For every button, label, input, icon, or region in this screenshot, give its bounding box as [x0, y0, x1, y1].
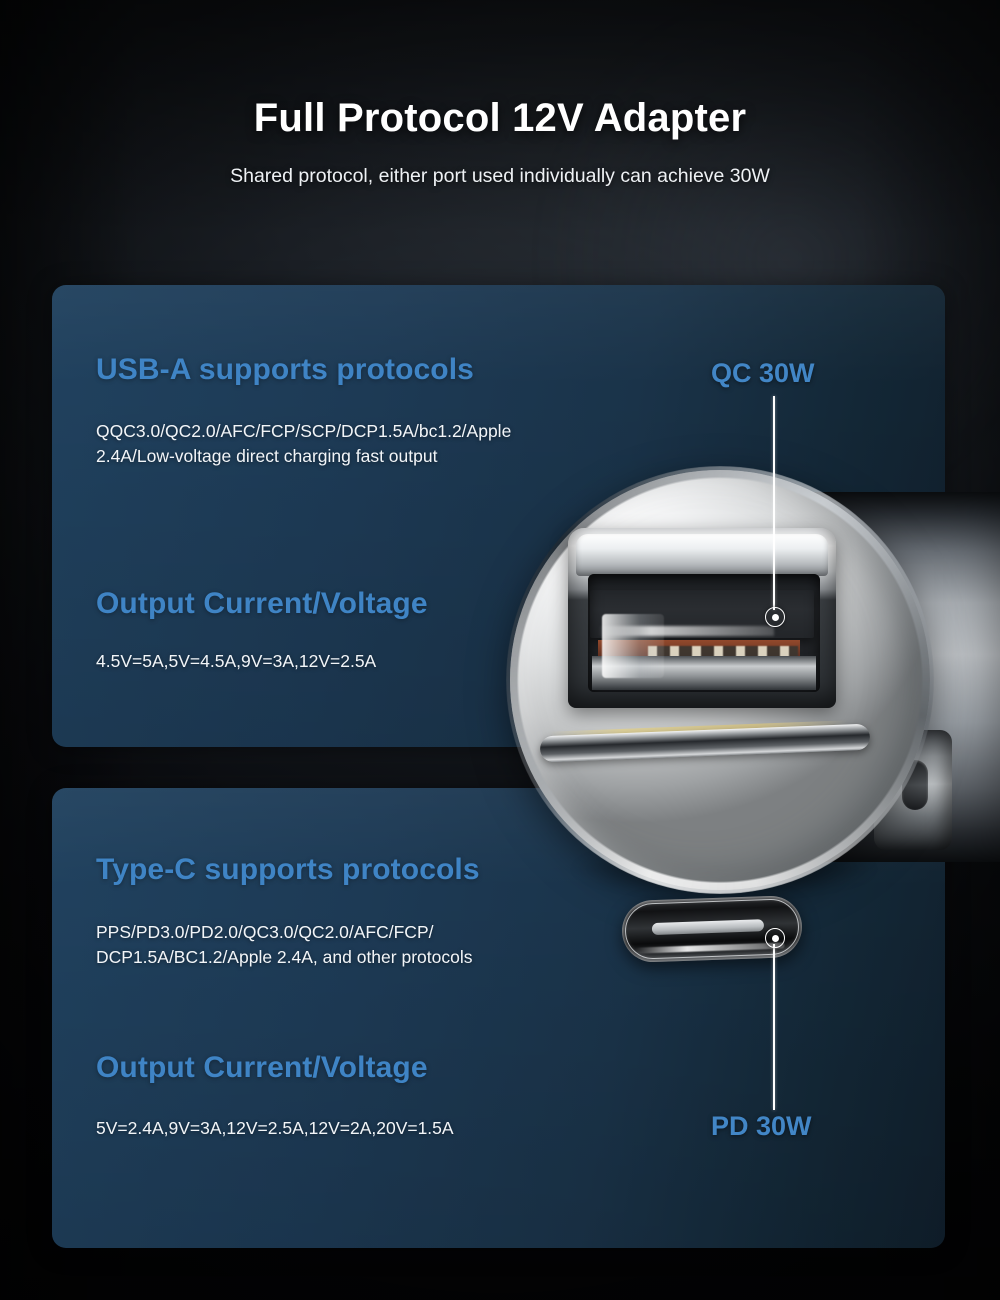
- type-c-protocols-body: PPS/PD3.0/PD2.0/QC3.0/QC2.0/AFC/FCP/ DCP…: [96, 920, 472, 970]
- callout-dot-qc: [765, 607, 785, 627]
- type-c-protocols-heading: Type-C supports protocols: [96, 853, 480, 887]
- callout-line-pd: [773, 944, 775, 1110]
- page-title: Full Protocol 12V Adapter: [0, 96, 1000, 141]
- callout-dot-pd: [765, 928, 785, 948]
- panel-type-c: Type-C supports protocols PPS/PD3.0/PD2.…: [52, 788, 945, 1248]
- page-header: Full Protocol 12V Adapter Shared protoco…: [0, 96, 1000, 188]
- type-c-output-body: 5V=2.4A,9V=3A,12V=2.5A,12V=2A,20V=1.5A: [96, 1116, 454, 1141]
- usb-a-output-heading: Output Current/Voltage: [96, 587, 428, 621]
- panel-usb-a: USB-A supports protocols QQC3.0/QC2.0/AF…: [52, 285, 945, 747]
- callout-label-qc: QC 30W: [711, 358, 815, 389]
- infographic-page: Full Protocol 12V Adapter Shared protoco…: [0, 0, 1000, 1300]
- callout-label-pd: PD 30W: [711, 1111, 812, 1142]
- page-subtitle: Shared protocol, either port used indivi…: [0, 165, 1000, 188]
- callout-line-qc: [773, 396, 775, 610]
- usb-a-output-body: 4.5V=5A,5V=4.5A,9V=3A,12V=2.5A: [96, 649, 376, 674]
- usb-a-protocols-heading: USB-A supports protocols: [96, 353, 474, 387]
- type-c-output-heading: Output Current/Voltage: [96, 1051, 428, 1085]
- usb-a-protocols-body: QQC3.0/QC2.0/AFC/FCP/SCP/DCP1.5A/bc1.2/A…: [96, 419, 511, 469]
